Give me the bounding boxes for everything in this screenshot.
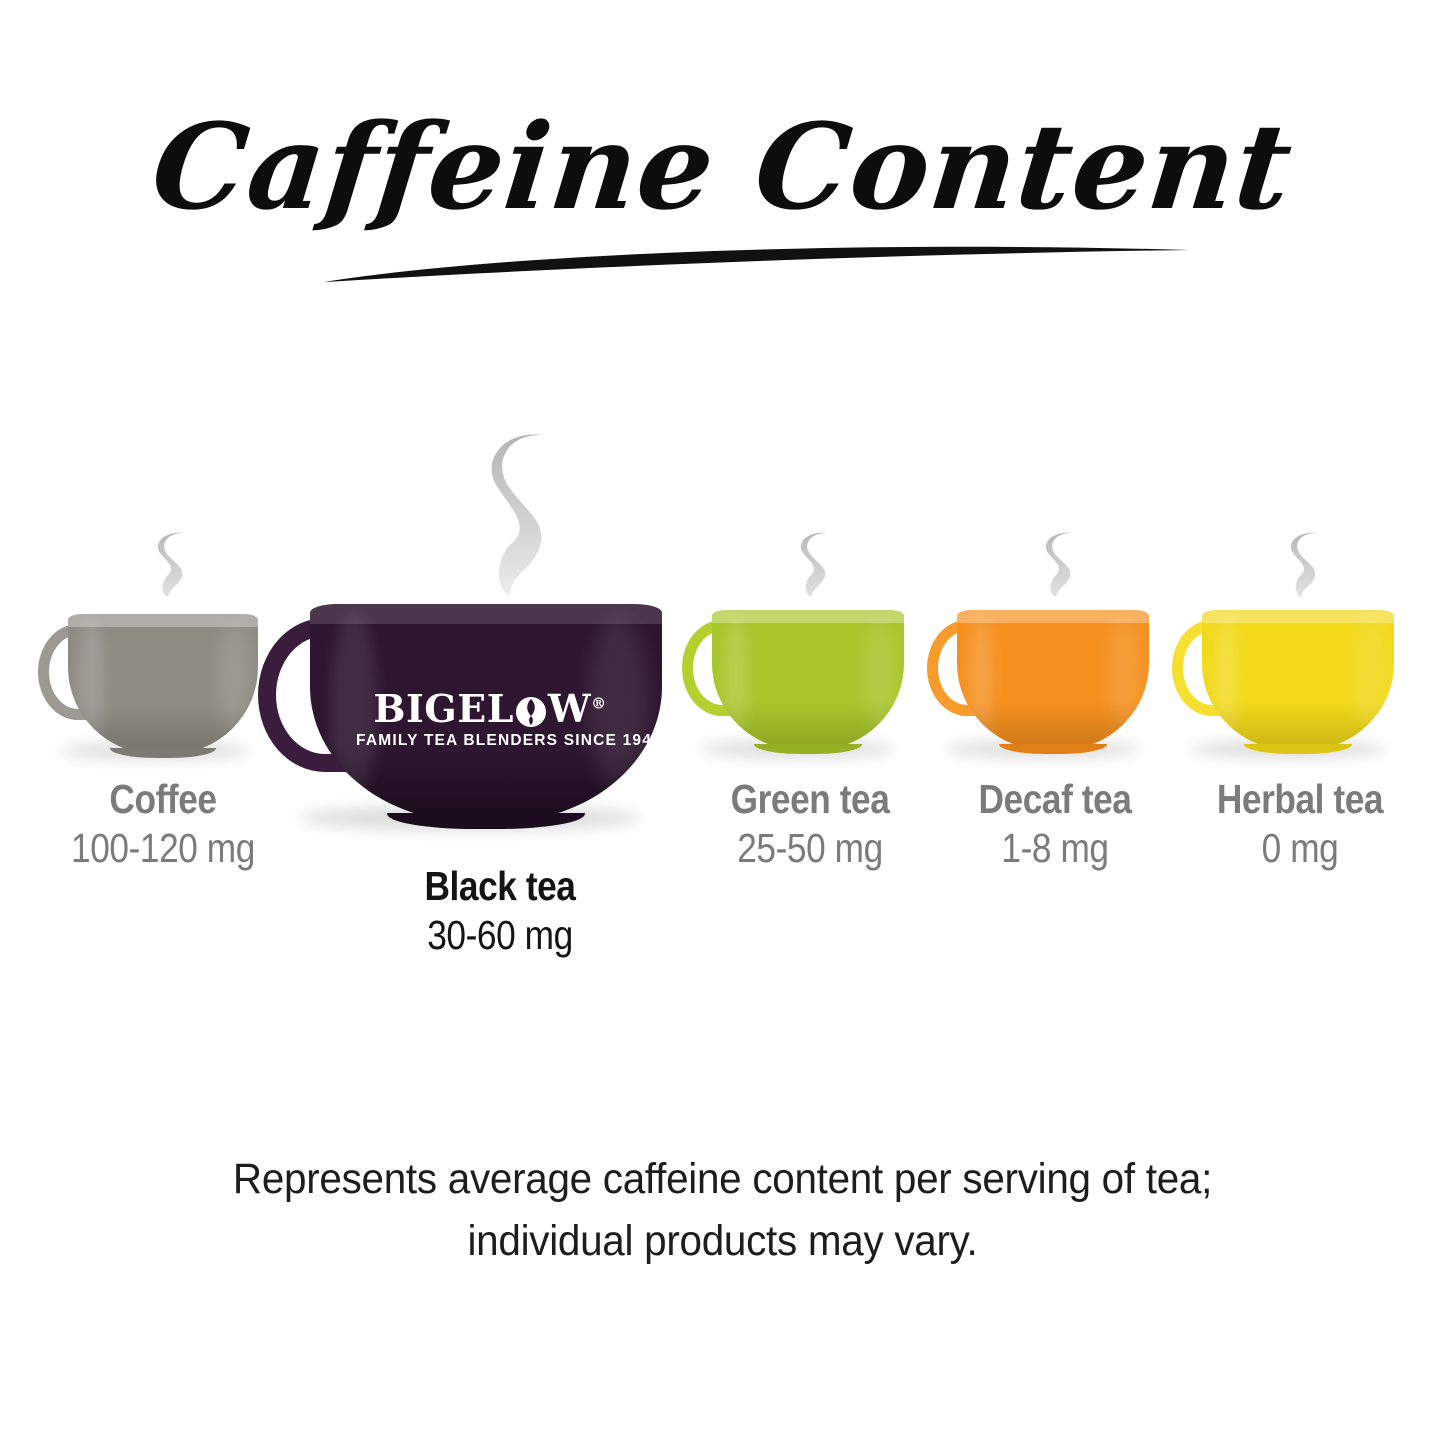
cup-label-herbal-tea: Herbal tea 0 mg bbox=[1155, 775, 1445, 873]
bigelow-wordmark-after: W bbox=[548, 686, 591, 731]
cup-amount-decaf-tea: 1-8 mg bbox=[930, 823, 1179, 873]
cup-herbal-tea bbox=[1202, 610, 1394, 750]
footnote-line-1: Represents average caffeine content per … bbox=[43, 1148, 1401, 1210]
cup-amount-green-tea: 25-50 mg bbox=[685, 823, 934, 873]
steam-wisp-icon-herbal-tea bbox=[1283, 531, 1331, 599]
footnote-line-2: individual products may vary. bbox=[43, 1210, 1401, 1272]
cup-amount-black-tea: 30-60 mg bbox=[371, 910, 629, 960]
steam-wisp-icon-decaf-tea bbox=[1038, 531, 1086, 599]
bigelow-wordmark-before: BIGEL bbox=[373, 686, 514, 731]
cup-decaf-tea bbox=[957, 610, 1149, 750]
cup-name-black-tea: Black tea bbox=[371, 862, 629, 910]
cup-green-tea bbox=[712, 610, 904, 750]
cup-label-coffee: Coffee 100-120 mg bbox=[18, 775, 308, 873]
bigelow-tagline: FAMILY TEA BLENDERS SINCE 1945 bbox=[356, 733, 624, 749]
caffeine-cup-chart: Coffee 100-120 mg bbox=[0, 0, 1445, 1010]
cup-name-coffee: Coffee bbox=[38, 775, 287, 823]
cup-amount-herbal-tea: 0 mg bbox=[1175, 823, 1424, 873]
cup-black-tea: BIGELW® FAMILY TEA BLENDERS SINCE 1945 bbox=[310, 604, 662, 822]
bigelow-teapot-o-icon bbox=[514, 694, 548, 728]
cup-name-herbal-tea: Herbal tea bbox=[1175, 775, 1424, 823]
steam-wisp-icon-coffee bbox=[150, 531, 198, 599]
cup-name-green-tea: Green tea bbox=[685, 775, 934, 823]
registered-mark-icon: ® bbox=[591, 694, 607, 712]
steam-wisp-icon-black-tea bbox=[482, 430, 564, 600]
footnote: Represents average caffeine content per … bbox=[0, 1148, 1445, 1272]
cup-label-black-tea: Black tea 30-60 mg bbox=[350, 862, 650, 960]
bigelow-logo: BIGELW® FAMILY TEA BLENDERS SINCE 1945 bbox=[356, 690, 624, 749]
cup-amount-coffee: 100-120 mg bbox=[38, 823, 287, 873]
cup-name-decaf-tea: Decaf tea bbox=[930, 775, 1179, 823]
cup-coffee bbox=[68, 614, 258, 754]
bigelow-wordmark: BIGELW® bbox=[356, 690, 624, 728]
steam-wisp-icon-green-tea bbox=[793, 531, 841, 599]
